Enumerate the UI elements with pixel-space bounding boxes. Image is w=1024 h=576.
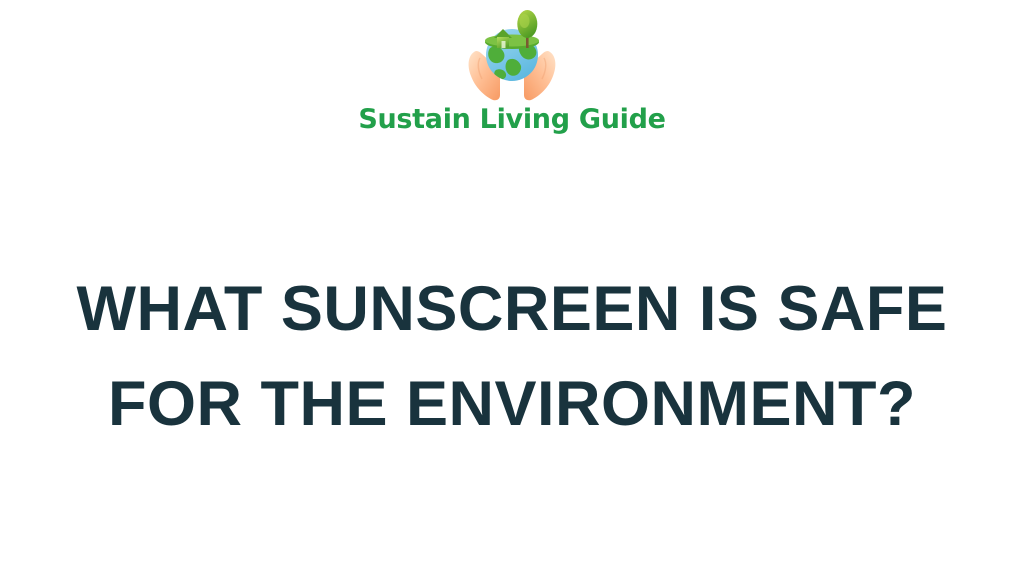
hands-holding-globe-icon — [450, 8, 574, 102]
page-title: WHAT SUNSCREEN IS SAFE FOR THE ENVIRONME… — [0, 262, 1024, 452]
brand-block[interactable]: Sustain Living Guide — [0, 8, 1024, 133]
brand-wordmark: Sustain Living Guide — [358, 106, 665, 133]
page-title-line-1: WHAT SUNSCREEN IS SAFE — [0, 262, 1024, 357]
page-title-line-2: FOR THE ENVIRONMENT? — [0, 357, 1024, 452]
